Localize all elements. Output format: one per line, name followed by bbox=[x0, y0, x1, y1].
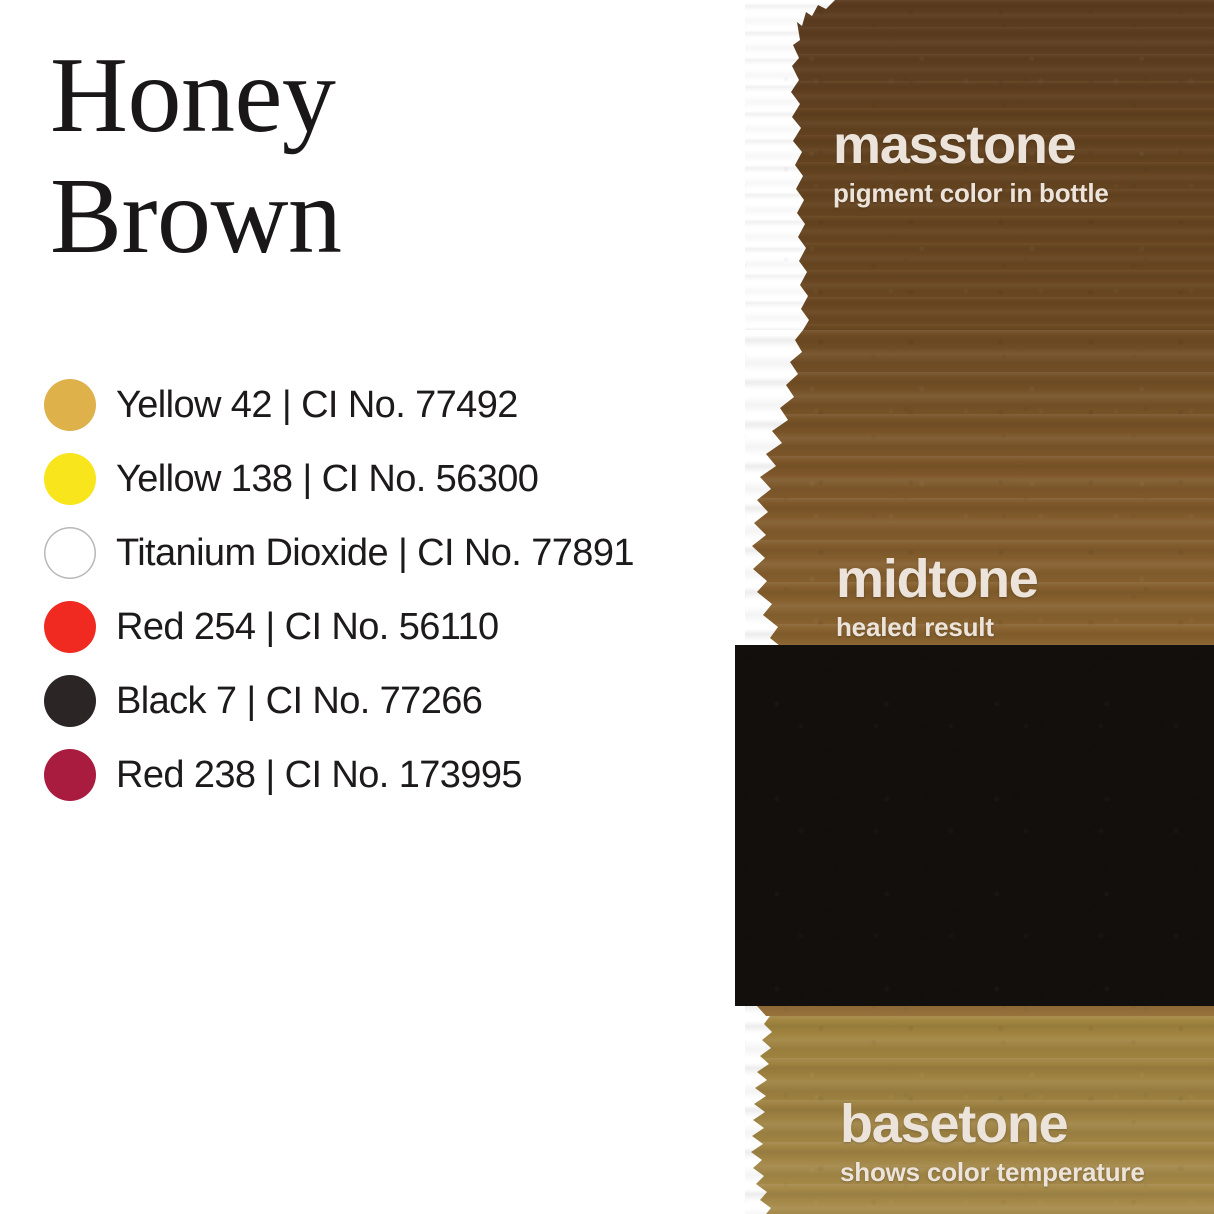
page-title-line-1: Honey bbox=[50, 36, 670, 157]
pigment-row: Black 7 | CI No. 77266 bbox=[44, 664, 734, 738]
midtone-label: midtone healed result bbox=[836, 552, 1038, 643]
pigment-label: Titanium Dioxide | CI No. 77891 bbox=[116, 532, 634, 575]
pigment-label: Red 254 | CI No. 56110 bbox=[116, 606, 499, 649]
basetone-subtitle: shows color temperature bbox=[840, 1158, 1145, 1188]
info-panel: Honey Brown Yellow 42 | CI No. 77492Yell… bbox=[0, 0, 745, 1214]
pigment-row: Yellow 42 | CI No. 77492 bbox=[44, 368, 734, 442]
swatch-red-238 bbox=[44, 749, 96, 801]
swatch-red-254 bbox=[44, 601, 96, 653]
pigment-label: Red 238 | CI No. 173995 bbox=[116, 754, 522, 797]
pigment-label: Black 7 | CI No. 77266 bbox=[116, 680, 482, 723]
masstone-title: masstone bbox=[833, 118, 1109, 172]
healed-result-black-block bbox=[735, 645, 1214, 1006]
pigment-row: Titanium Dioxide | CI No. 77891 bbox=[44, 516, 734, 590]
pigment-color-card: masstone pigment color in bottle midtone… bbox=[0, 0, 1214, 1214]
pigment-label: Yellow 42 | CI No. 77492 bbox=[116, 384, 518, 427]
pigment-row: Red 238 | CI No. 173995 bbox=[44, 738, 734, 812]
pigment-ingredient-list: Yellow 42 | CI No. 77492Yellow 138 | CI … bbox=[44, 368, 734, 812]
basetone-label: basetone shows color temperature bbox=[840, 1097, 1145, 1188]
pigment-row: Red 254 | CI No. 56110 bbox=[44, 590, 734, 664]
swatch-titanium-dioxide bbox=[44, 527, 96, 579]
masstone-label: masstone pigment color in bottle bbox=[833, 118, 1109, 209]
page-title: Honey Brown bbox=[50, 36, 670, 278]
midtone-subtitle: healed result bbox=[836, 613, 1038, 643]
swatch-yellow-42 bbox=[44, 379, 96, 431]
pigment-label: Yellow 138 | CI No. 56300 bbox=[116, 458, 538, 501]
black-block-grain bbox=[735, 645, 1214, 1006]
midtone-title: midtone bbox=[836, 552, 1038, 606]
swatch-yellow-138 bbox=[44, 453, 96, 505]
page-title-line-2: Brown bbox=[50, 157, 670, 278]
pigment-row: Yellow 138 | CI No. 56300 bbox=[44, 442, 734, 516]
masstone-subtitle: pigment color in bottle bbox=[833, 179, 1109, 209]
swatch-black-7 bbox=[44, 675, 96, 727]
basetone-title: basetone bbox=[840, 1097, 1145, 1151]
